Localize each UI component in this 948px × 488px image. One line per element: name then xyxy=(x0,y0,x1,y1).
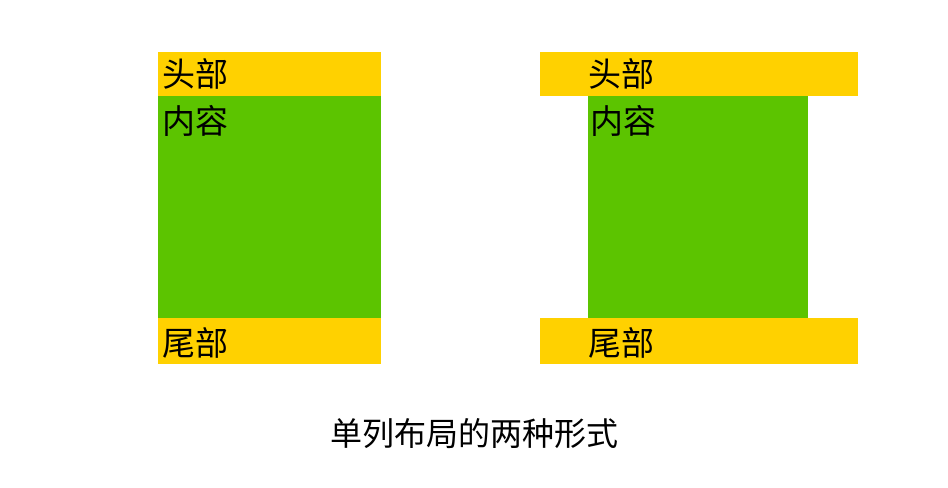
left-diagram-footer-block: 尾部 xyxy=(158,318,381,364)
right-diagram-footer-label: 尾部 xyxy=(588,327,654,360)
left-diagram-footer-label: 尾部 xyxy=(162,327,228,360)
right-diagram-header-block: 头部 xyxy=(540,52,858,96)
left-diagram-header-label: 头部 xyxy=(162,58,228,91)
right-diagram-content-block: 内容 xyxy=(588,96,808,318)
figure-canvas: 头部 内容 尾部 头部 内容 尾部 单列布局的两种形式 xyxy=(0,0,948,488)
left-diagram-content-block: 内容 xyxy=(158,96,381,318)
left-diagram-header-block: 头部 xyxy=(158,52,381,96)
figure-caption: 单列布局的两种形式 xyxy=(0,414,948,454)
right-diagram-footer-block: 尾部 xyxy=(540,318,858,364)
right-diagram-content-label: 内容 xyxy=(590,105,656,138)
right-diagram-header-label: 头部 xyxy=(588,58,654,91)
left-diagram-content-label: 内容 xyxy=(162,105,228,138)
